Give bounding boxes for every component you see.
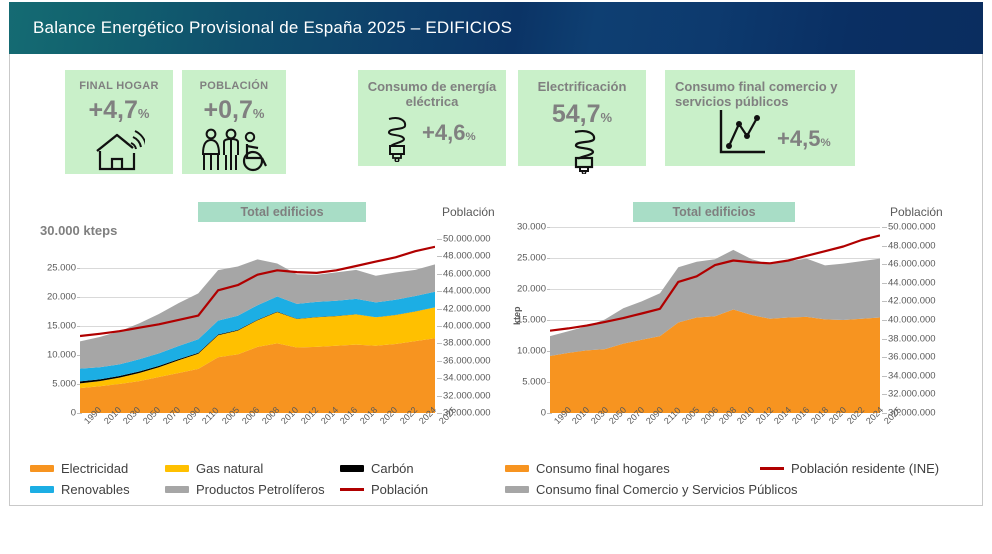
legend-item[interactable]: Carbón: [340, 460, 414, 476]
legend-swatch: [505, 486, 529, 493]
chart-legend-left: ElectricidadGas naturalCarbónRenovablesP…: [30, 460, 490, 502]
y-axis-tick-label: 0: [541, 408, 546, 419]
y-axis-tick-label: 30.000: [517, 222, 546, 233]
people-accessibility-icon: [200, 128, 270, 172]
secondary-y-axis-tick-mark: [882, 227, 887, 228]
secondary-axis-title: Población: [442, 205, 495, 219]
secondary-y-axis-tick-label: 44.000.000: [443, 286, 491, 297]
secondary-y-axis-tick-mark: [882, 283, 887, 284]
legend-label: Población residente (INE): [791, 461, 939, 476]
legend-label: Consumo final hogares: [536, 461, 670, 476]
secondary-y-axis-tick-label: 46.000.000: [888, 259, 936, 270]
secondary-y-axis-tick-mark: [437, 343, 442, 344]
kpi-card-electrificacion[interactable]: Electrificación 54,7%: [518, 70, 646, 166]
secondary-y-axis-tick-mark: [437, 309, 442, 310]
secondary-y-axis-tick-mark: [882, 339, 887, 340]
secondary-y-axis-tick-mark: [882, 264, 887, 265]
y-axis-tick-mark: [77, 413, 82, 414]
plot-area: [80, 239, 435, 413]
secondary-y-axis-tick-mark: [437, 361, 442, 362]
secondary-y-axis-tick-label: 44.000.000: [888, 277, 936, 288]
secondary-y-axis-tick-mark: [882, 301, 887, 302]
x-axis-labels: 1990201020302050207020902110200520062008…: [550, 417, 880, 457]
secondary-y-axis-tick-label: 38.000.000: [443, 338, 491, 349]
chart-legend-right: Consumo final hogaresConsumo final Comer…: [505, 460, 975, 502]
secondary-y-axis-tick-mark: [437, 274, 442, 275]
kpi-value: +0,7%: [182, 96, 286, 125]
legend-item[interactable]: Población residente (INE): [760, 460, 939, 476]
kpi-label: POBLACIÓN: [182, 80, 286, 93]
secondary-y-axis-tick-label: 48.000.000: [888, 240, 936, 251]
secondary-y-axis-tick-mark: [437, 239, 442, 240]
secondary-y-axis-tick-mark: [437, 326, 442, 327]
legend-item[interactable]: Consumo final Comercio y Servicios Públi…: [505, 481, 798, 497]
kpi-value: +4,5%: [777, 126, 831, 152]
secondary-y-axis-tick-mark: [882, 246, 887, 247]
legend-label: Productos Petrolíferos: [196, 482, 325, 497]
page-title: Balance Energético Provisional de España…: [33, 18, 512, 38]
chart-total-edificios-hogares-servicios[interactable]: Total edificios Población ktep 05.00010.…: [498, 195, 974, 455]
legend-swatch: [760, 467, 784, 470]
secondary-y-axis-tick-mark: [882, 320, 887, 321]
kpi-label: Electrificación: [518, 80, 646, 95]
y-axis-tick-label: 5.000: [52, 379, 76, 390]
chart-title-badge: Total edificios: [198, 202, 366, 222]
kpi-label: FINAL HOGAR: [65, 80, 173, 93]
chart-total-edificios-por-fuente[interactable]: Total edificios 30.000 kteps Población 0…: [20, 195, 500, 455]
light-bulb-icon: [566, 128, 602, 174]
secondary-y-axis-tick-label: 32.000.000: [888, 389, 936, 400]
secondary-y-axis-tick-label: 40.000.000: [888, 315, 936, 326]
secondary-y-axis-tick-label: 36.000.000: [888, 352, 936, 363]
secondary-y-axis-tick-mark: [437, 256, 442, 257]
legend-label: Carbón: [371, 461, 414, 476]
secondary-y-axis-tick-label: 38.000.000: [888, 333, 936, 344]
secondary-y-axis-tick-label: 42.000.000: [443, 303, 491, 314]
legend-swatch: [340, 465, 364, 472]
secondary-y-axis-tick-label: 42.000.000: [888, 296, 936, 307]
slide-header: Balance Energético Provisional de España…: [9, 2, 983, 54]
kpi-card-poblacion[interactable]: POBLACIÓN +0,7%: [182, 70, 286, 174]
x-axis-labels: 1990201020302050207020902110200520062008…: [80, 417, 435, 457]
y-axis-tick-label: 25.000: [517, 253, 546, 264]
secondary-y-axis-tick-label: 36.000.000: [443, 355, 491, 366]
y-axis-tick-label: 15.000: [47, 321, 76, 332]
secondary-y-axis-tick-mark: [437, 291, 442, 292]
secondary-y-axis-tick-label: 34.000.000: [443, 373, 491, 384]
y-axis-left: 05.00010.00015.00020.00025.00030.000: [490, 227, 546, 413]
y-axis-tick-mark: [547, 413, 552, 414]
kpi-card-consumo-comercio-servicios[interactable]: Consumo final comercio y servicios públi…: [665, 70, 855, 166]
legend-label: Renovables: [61, 482, 130, 497]
legend-item[interactable]: Electricidad: [30, 460, 128, 476]
y-axis-tick-label: 25.000: [47, 263, 76, 274]
y-axis-tick-label: 5.000: [522, 377, 546, 388]
legend-item[interactable]: Población: [340, 481, 428, 497]
kpi-card-final-hogar[interactable]: FINAL HOGAR +4,7%: [65, 70, 173, 174]
legend-item[interactable]: Renovables: [30, 481, 130, 497]
secondary-axis-title: Población: [890, 205, 943, 219]
legend-swatch: [165, 465, 189, 472]
y-axis-right: 30.000.00032.000.00034.000.00036.000.000…: [888, 227, 958, 413]
legend-label: Electricidad: [61, 461, 128, 476]
chart-unit-header: 30.000 kteps: [40, 223, 117, 238]
legend-item[interactable]: Gas natural: [165, 460, 263, 476]
legend-swatch: [30, 465, 54, 472]
line-chart-icon: [715, 108, 773, 160]
legend-swatch: [165, 486, 189, 493]
kpi-card-consumo-energia-electrica[interactable]: Consumo de energía eléctrica +4,6%: [358, 70, 506, 166]
legend-item[interactable]: Consumo final hogares: [505, 460, 670, 476]
y-axis-tick-label: 10.000: [517, 346, 546, 357]
secondary-y-axis-tick-label: 34.000.000: [888, 370, 936, 381]
secondary-y-axis-tick-label: 40.000.000: [443, 321, 491, 332]
chart-title-badge: Total edificios: [633, 202, 795, 222]
secondary-y-axis-tick-mark: [437, 396, 442, 397]
secondary-y-axis-tick-label: 32.000.000: [443, 390, 491, 401]
secondary-y-axis-tick-label: 50.000.000: [443, 234, 491, 245]
legend-swatch: [30, 486, 54, 493]
kpi-row: FINAL HOGAR +4,7% POBLACIÓN +0,7%: [0, 62, 974, 182]
legend-label: Consumo final Comercio y Servicios Públi…: [536, 482, 798, 497]
plot-area: [550, 227, 880, 413]
y-axis-tick-label: 20.000: [47, 292, 76, 303]
slide-page: Balance Energético Provisional de España…: [0, 0, 992, 554]
legend-swatch: [340, 488, 364, 491]
y-axis-tick-label: 10.000: [47, 350, 76, 361]
secondary-y-axis-tick-label: 46.000.000: [443, 268, 491, 279]
legend-label: Gas natural: [196, 461, 263, 476]
secondary-y-axis-tick-label: 48.000.000: [443, 251, 491, 262]
y-axis-tick-label: 20.000: [517, 284, 546, 295]
secondary-y-axis-tick-mark: [882, 394, 887, 395]
y-axis-tick-label: 0: [71, 408, 76, 419]
legend-swatch: [505, 465, 529, 472]
secondary-y-axis-tick-mark: [882, 357, 887, 358]
y-axis-tick-label: 15.000: [517, 315, 546, 326]
kpi-label: Consumo de energía eléctrica: [366, 80, 498, 110]
legend-label: Población: [371, 482, 428, 497]
kpi-value: 54,7%: [518, 100, 646, 129]
secondary-y-axis-tick-label: 50.000.000: [888, 222, 936, 233]
kpi-value: +4,7%: [65, 96, 173, 125]
light-bulb-icon: [378, 114, 416, 162]
kpi-label: Consumo final comercio y servicios públi…: [675, 80, 851, 110]
secondary-y-axis-tick-mark: [882, 376, 887, 377]
y-axis-left: 05.00010.00015.00020.00025.000: [20, 239, 76, 413]
legend-item[interactable]: Productos Petrolíferos: [165, 481, 325, 497]
kpi-value: +4,6%: [422, 120, 476, 146]
house-wifi-icon: [93, 129, 145, 171]
secondary-y-axis-tick-mark: [437, 378, 442, 379]
